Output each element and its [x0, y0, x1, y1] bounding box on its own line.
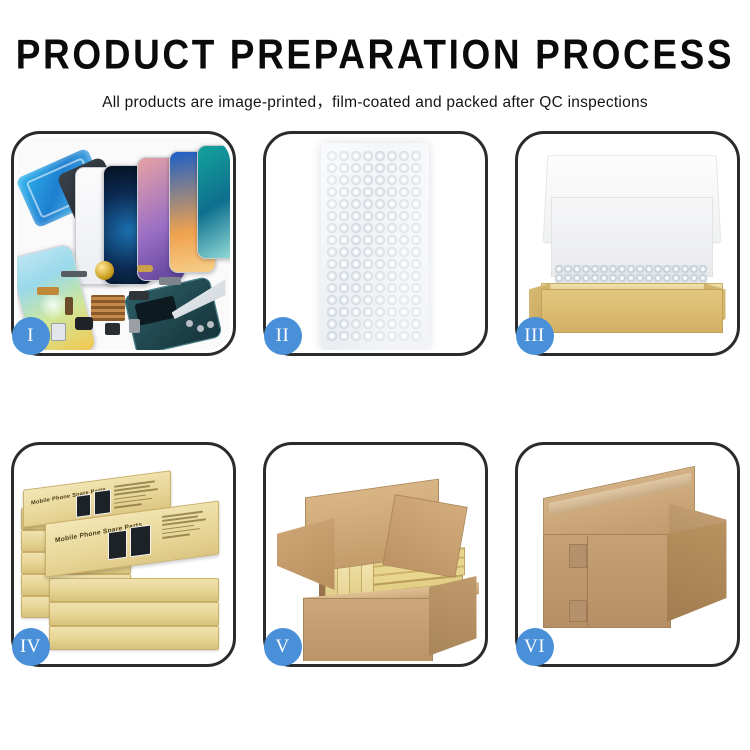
carton-flap-tab-shape — [569, 544, 587, 568]
gold-coil-shape — [95, 261, 114, 280]
process-step-grid: I II III — [0, 131, 750, 667]
spare-part-shape — [75, 317, 93, 330]
box-label-text: Mobile Phone Spare Parts — [54, 521, 142, 544]
box-spec-lines-shape — [162, 510, 210, 541]
carton-front-shape — [543, 534, 671, 628]
carton-flap-tab-shape — [569, 600, 587, 622]
step-panel-4: Mobile Phone Spare Parts Mobile Phone Sp… — [11, 442, 236, 667]
spare-part-shape — [105, 323, 120, 335]
step-panel-5: V — [263, 442, 488, 667]
spare-part-shape — [37, 287, 59, 295]
infographic-page: PRODUCT PREPARATION PROCESS All products… — [0, 0, 750, 750]
step-panel-1: I — [11, 131, 236, 356]
page-title: PRODUCT PREPARATION PROCESS — [0, 34, 750, 75]
carton-seam-shape — [587, 536, 589, 626]
sealed-carton-photo — [521, 448, 734, 661]
carton-side-shape — [429, 576, 477, 656]
screen-thumbnail-shape — [130, 524, 151, 557]
step-panel-3: III — [515, 131, 740, 356]
retail-box-shape — [49, 626, 219, 650]
mailer-front-wall-shape — [541, 289, 723, 333]
spare-part-shape — [65, 297, 73, 315]
step-badge-4: IV — [12, 628, 50, 666]
carton-left-flap-shape — [277, 518, 335, 590]
step-badge-5: V — [264, 628, 302, 666]
carton-front-shape — [303, 598, 433, 661]
retail-box-shape — [49, 578, 219, 602]
screen-thumbnail-shape — [76, 494, 91, 518]
spare-part-shape — [129, 291, 149, 300]
spare-part-shape — [51, 323, 66, 341]
step-badge-6: VI — [516, 628, 554, 666]
header: PRODUCT PREPARATION PROCESS All products… — [0, 0, 750, 112]
chip-array-shape — [91, 295, 125, 321]
screen-thumbnail-shape — [108, 530, 127, 561]
bubble-wrap-photo — [269, 137, 482, 350]
bubble-wrap-pouch-shape — [321, 143, 429, 350]
carton-side-shape — [667, 522, 727, 622]
box-spec-lines-shape — [114, 479, 162, 510]
page-subtitle: All products are image-printed，film-coat… — [0, 90, 750, 112]
spare-part-shape — [137, 265, 153, 272]
spare-part-shape — [61, 271, 87, 277]
box-stack-group: Mobile Phone Spare Parts Mobile Phone Sp… — [21, 462, 230, 661]
plastic-sheen-shape — [321, 143, 429, 350]
screws-shape — [186, 320, 216, 336]
retail-box-shape — [49, 602, 219, 626]
carton-packing-photo — [269, 448, 482, 661]
step-panel-2: II — [263, 131, 488, 356]
phone-parts-photo — [17, 137, 230, 350]
retail-box-stack-photo: Mobile Phone Spare Parts Mobile Phone Sp… — [17, 448, 230, 661]
inner-box-photo — [521, 137, 734, 350]
step-badge-2: II — [264, 317, 302, 355]
screen-thumbnail-shape — [94, 489, 111, 515]
phone-teal-shape — [197, 145, 230, 259]
spare-part-shape — [129, 319, 140, 333]
carton-right-flap-shape — [382, 494, 467, 578]
step-badge-1: I — [12, 317, 50, 355]
step-badge-3: III — [516, 317, 554, 355]
spare-part-shape — [159, 277, 181, 285]
step-panel-6: VI — [515, 442, 740, 667]
